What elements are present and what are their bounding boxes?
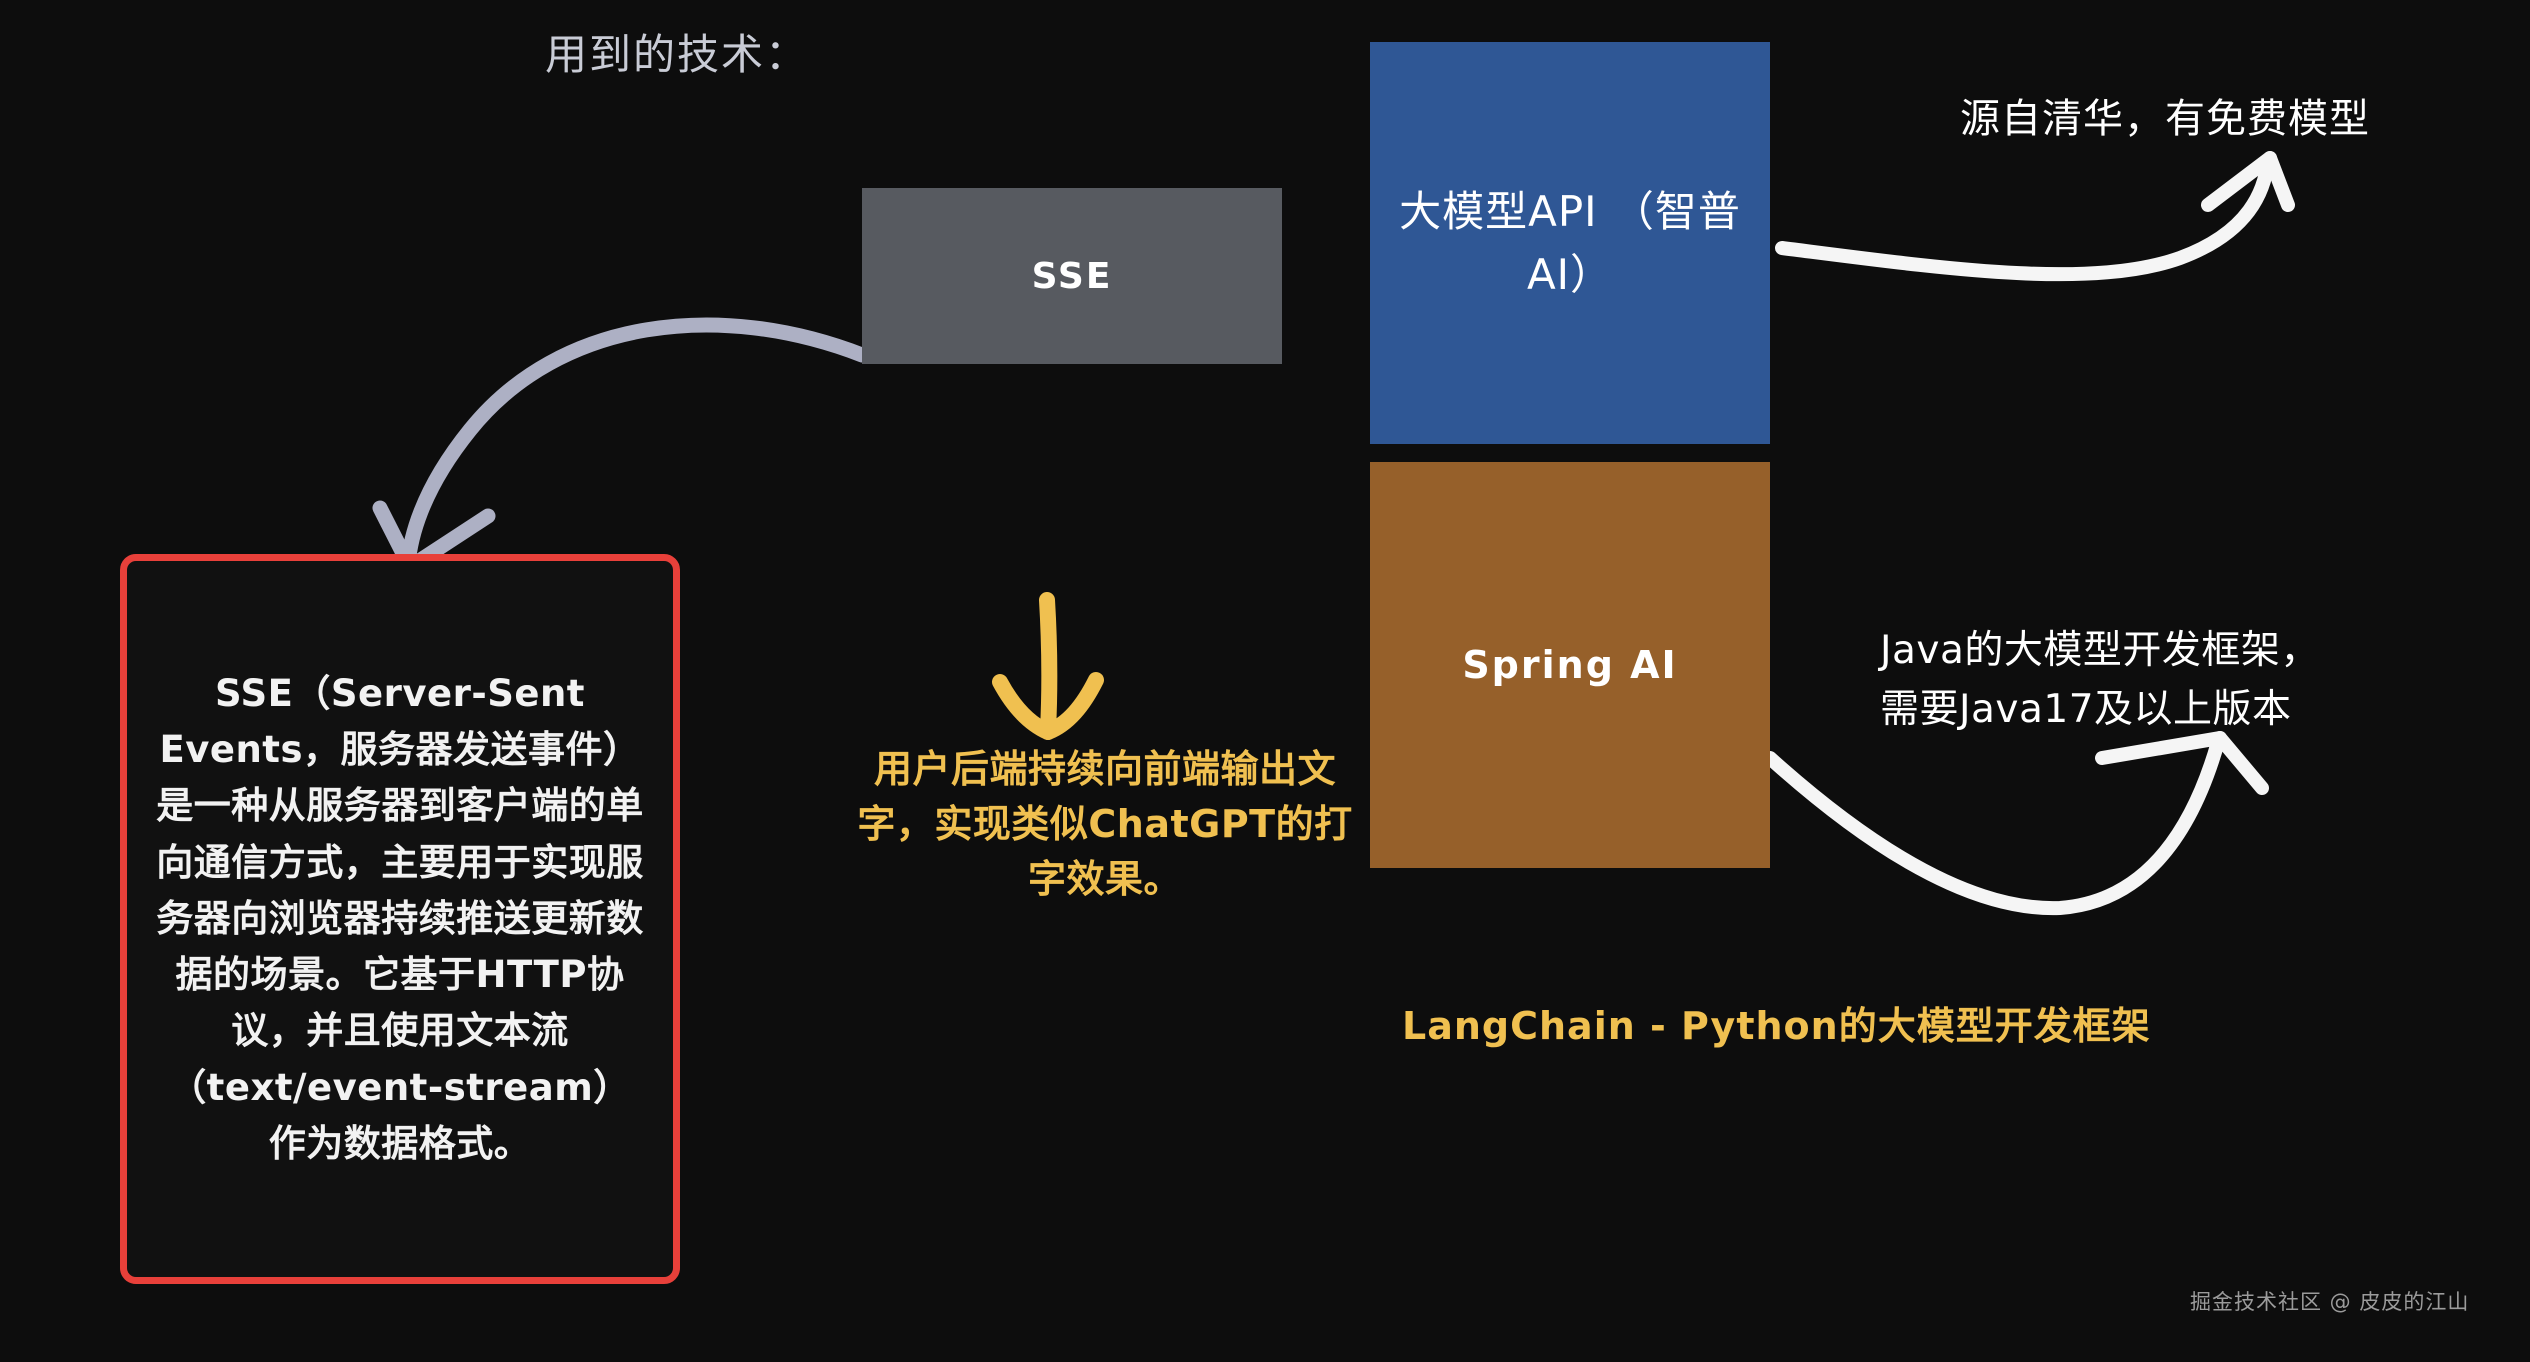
sse-box[interactable]: SSE (862, 188, 1282, 364)
down-arrow-sse-to-usage (1000, 600, 1096, 732)
sse-definition-text: SSE（Server-Sent Events，服务器发送事件）是一种从服务器到客… (153, 666, 647, 1172)
curved-arrow-spring-to-java-note (1770, 738, 2262, 908)
sse-definition-card: SSE（Server-Sent Events，服务器发送事件）是一种从服务器到客… (120, 554, 680, 1284)
spring-ai-box[interactable]: Spring AI (1370, 462, 1770, 868)
curved-arrow-api-to-zhipu-note (1782, 158, 2288, 274)
watermark: 掘金技术社区 @ 皮皮的江山 (2190, 1288, 2469, 1317)
zhipu-note: 源自清华，有免费模型 (1960, 92, 2370, 147)
model-api-box[interactable]: 大模型API （智普AI） (1370, 42, 1770, 444)
sse-usage-note: 用户后端持续向前端输出文字，实现类似ChatGPT的打字效果。 (845, 742, 1365, 907)
spring-ai-note: Java的大模型开发框架， 需要Java17及以上版本 (1880, 622, 2320, 739)
page-title: 用到的技术： (545, 26, 809, 84)
langchain-note: LangChain - Python的大模型开发框架 (1402, 1000, 2151, 1052)
curved-arrow-sse-to-definition (380, 325, 862, 567)
diagram-canvas: 用到的技术： SSE 大模型API （智普AI） (0, 0, 2530, 1362)
